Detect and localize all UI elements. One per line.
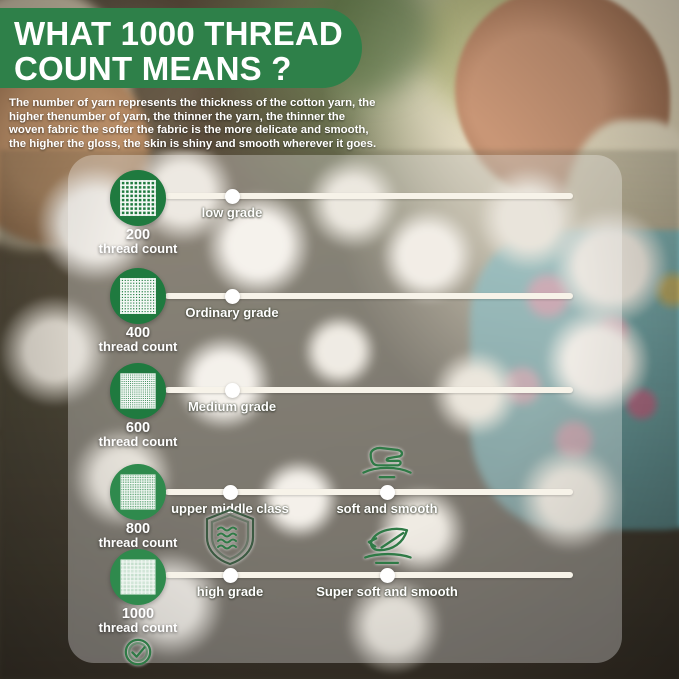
thread-count-number: 600 — [78, 421, 198, 435]
grade-label: low grade — [202, 205, 263, 220]
intro-paragraph: The number of yarn represents the thickn… — [9, 97, 379, 151]
page-title-line2: COUNT MEANS ? — [14, 51, 364, 86]
scale-marker-dot[interactable] — [380, 485, 395, 500]
scale-marker-dot[interactable] — [380, 568, 395, 583]
scale-marker-dot[interactable] — [225, 289, 240, 304]
thread-count-badge-600[interactable] — [110, 363, 166, 419]
thread-count-number: 1000 — [78, 607, 198, 621]
feature-label: soft and smooth — [336, 501, 437, 516]
thread-count-badge-800[interactable] — [110, 464, 166, 520]
thread-count-label: 400thread count — [78, 326, 198, 354]
thread-count-label: 600thread count — [78, 421, 198, 449]
scale-marker-dot[interactable] — [223, 485, 238, 500]
thread-count-label: 1000thread count — [78, 607, 198, 635]
thread-count-unit: thread count — [78, 340, 198, 354]
thread-count-unit: thread count — [78, 536, 198, 550]
thread-count-badge-200[interactable] — [110, 170, 166, 226]
thread-count-number: 400 — [78, 326, 198, 340]
thread-count-label: 200thread count — [78, 228, 198, 256]
check-circle-icon — [123, 637, 153, 667]
grade-label: Ordinary grade — [185, 305, 278, 320]
thread-count-number: 800 — [78, 522, 198, 536]
hand-stroking-fabric-icon — [358, 440, 416, 484]
scale-marker-dot[interactable] — [225, 383, 240, 398]
weave-grid-icon — [119, 277, 157, 315]
thread-count-number: 200 — [78, 228, 198, 242]
scale-marker-dot[interactable] — [225, 189, 240, 204]
grade-label: Medium grade — [188, 399, 276, 414]
feather-softness-icon — [358, 523, 416, 567]
page-title: WHAT 1000 THREAD COUNT MEANS ? — [14, 16, 364, 86]
scale-marker-dot[interactable] — [223, 568, 238, 583]
thread-count-unit: thread count — [78, 435, 198, 449]
thread-count-badge-1000[interactable] — [110, 549, 166, 605]
infographic-canvas: WHAT 1000 THREAD COUNT MEANS ? The numbe… — [0, 0, 679, 679]
weave-grid-icon — [119, 473, 157, 511]
thread-count-badge-400[interactable] — [110, 268, 166, 324]
feature-label: Super soft and smooth — [316, 584, 458, 599]
thread-count-unit: thread count — [78, 242, 198, 256]
grade-label: high grade — [197, 584, 263, 599]
page-title-line1: WHAT 1000 THREAD — [14, 16, 364, 51]
weave-grid-icon — [119, 372, 157, 410]
thread-count-label: 800thread count — [78, 522, 198, 550]
weave-grid-icon — [119, 558, 157, 596]
scale-row: 1000thread counthigh gradeSuper soft and… — [0, 0, 679, 1]
weave-grid-icon — [119, 179, 157, 217]
thread-count-unit: thread count — [78, 621, 198, 635]
shield-quality-icon — [202, 507, 258, 567]
